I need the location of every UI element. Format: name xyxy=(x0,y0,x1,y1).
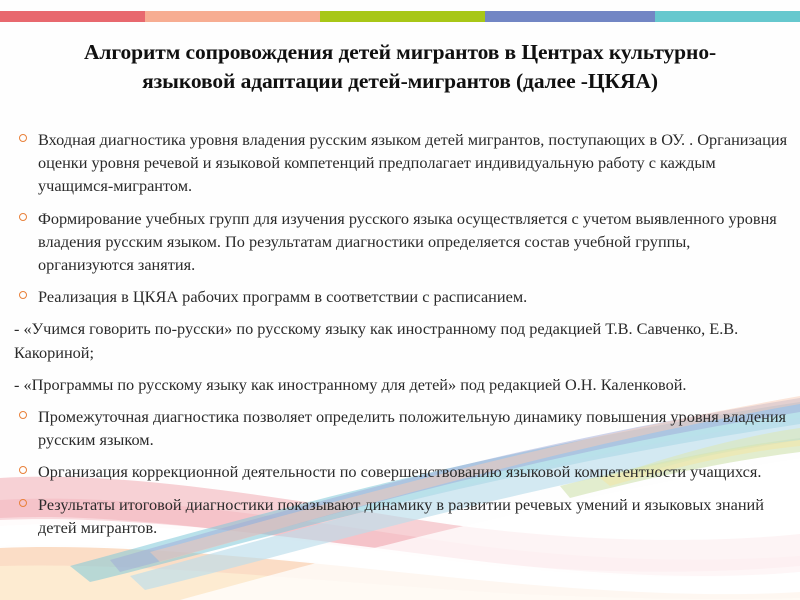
bullet-item: Входная диагностика уровня владения русс… xyxy=(14,128,790,198)
slide-title: Алгоритм сопровождения детей мигрантов в… xyxy=(55,38,745,96)
top-bar-segment-red xyxy=(0,11,145,22)
slide-title-line-1: Алгоритм сопровождения детей мигрантов в… xyxy=(55,38,745,67)
top-bar-segment-salmon xyxy=(145,11,320,22)
top-bar-segment-green xyxy=(320,11,485,22)
bullet-circle-icon xyxy=(19,466,27,474)
bullet-circle-icon xyxy=(19,411,27,419)
bullet-item: Промежуточная диагностика позволяет опре… xyxy=(14,405,790,451)
bullet-item: Формирование учебных групп для изучения … xyxy=(14,207,790,277)
bullet-item: Результаты итоговой диагностики показыва… xyxy=(14,493,790,539)
slide-canvas: Алгоритм сопровождения детей мигрантов в… xyxy=(0,0,800,600)
top-color-bar xyxy=(0,11,800,22)
paragraph-text: - «Программы по русскому языку как иност… xyxy=(14,373,790,396)
bullet-item-text: Промежуточная диагностика позволяет опре… xyxy=(38,405,790,451)
top-bar-segment-blue xyxy=(485,11,655,22)
bullet-circle-icon xyxy=(19,134,27,142)
text-paragraph: - «Программы по русскому языку как иност… xyxy=(14,373,790,396)
bullet-item-text: Организация коррекционной деятельности п… xyxy=(38,460,790,483)
bullet-item-text: Формирование учебных групп для изучения … xyxy=(38,207,790,277)
bullet-circle-icon xyxy=(19,213,27,221)
ribbon-peach-bottom xyxy=(0,547,800,600)
text-paragraph: - «Учимся говорить по-русски» по русском… xyxy=(14,317,790,363)
slide-body: Входная диагностика уровня владения русс… xyxy=(14,128,790,548)
bullet-circle-icon xyxy=(19,499,27,507)
bullet-item-text: Результаты итоговой диагностики показыва… xyxy=(38,493,790,539)
slide-title-line-2: языковой адаптации детей-мигрантов (дале… xyxy=(55,67,745,96)
top-bar-segment-teal xyxy=(655,11,800,22)
paragraph-text: - «Учимся говорить по-русски» по русском… xyxy=(14,317,790,363)
bullet-circle-icon xyxy=(19,291,27,299)
bullet-item-text: Входная диагностика уровня владения русс… xyxy=(38,128,790,198)
bullet-item: Организация коррекционной деятельности п… xyxy=(14,460,790,483)
bullet-item: Реализация в ЦКЯА рабочих программ в соо… xyxy=(14,285,790,308)
ribbon-cream-bottom xyxy=(0,566,800,600)
bullet-item-text: Реализация в ЦКЯА рабочих программ в соо… xyxy=(38,285,790,308)
